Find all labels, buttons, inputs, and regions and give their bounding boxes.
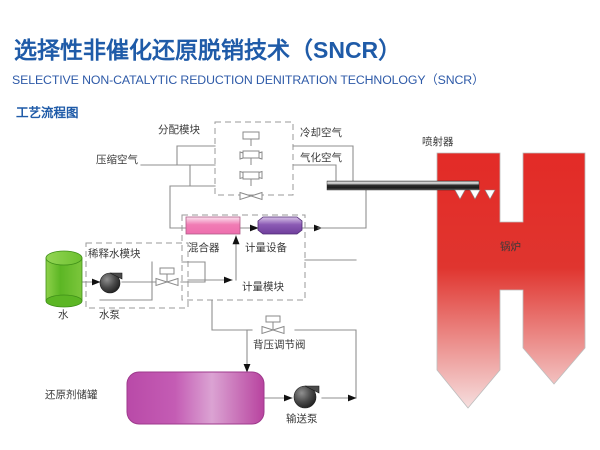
label-gasification-air: 气化空气 (300, 151, 342, 164)
piping-network (82, 146, 366, 398)
injector-lance (327, 181, 479, 190)
label-transfer-pump: 输送泵 (286, 412, 318, 425)
pipe-branch-down (190, 165, 215, 186)
water-pump (100, 273, 122, 293)
valve-dilution-water[interactable] (156, 268, 178, 286)
label-dilution-water-module: 稀释水模块 (88, 247, 141, 260)
pipe-branch-up (177, 146, 215, 165)
mixer-vessel (186, 217, 240, 234)
label-mixer: 混合器 (188, 241, 220, 254)
label-cooling-air: 冷却空气 (300, 126, 342, 139)
label-injector: 喷射器 (422, 135, 454, 148)
pipe-meter-riser (318, 186, 366, 228)
label-metering-module: 计量模块 (242, 280, 284, 293)
label-compressed-air: 压缩空气 (96, 153, 138, 166)
nozzle-group (455, 190, 495, 199)
label-water: 水 (58, 309, 69, 321)
label-distribution-module: 分配模块 (158, 124, 200, 136)
label-back-pressure-valve: 背压调节阀 (253, 338, 306, 351)
valve-back-pressure[interactable] (262, 316, 284, 334)
pipe-tank-fill (212, 300, 247, 372)
process-flow-diagram: 分配模块 压缩空气 冷却空气 气化空气 喷射器 锅炉 混合器 计量设备 计量模块… (0, 0, 600, 450)
metering-device-vessel (258, 217, 302, 234)
label-boiler: 锅炉 (500, 241, 521, 253)
pipe-valve-to-metering (181, 262, 205, 282)
label-reductant-tank: 还原剂储罐 (45, 388, 98, 401)
label-water-pump: 水泵 (99, 309, 120, 321)
transfer-pump (294, 386, 319, 408)
reductant-storage-tank (127, 372, 264, 424)
slide-page: 选择性非催化还原脱销技术（SNCR） SELECTIVE NON-CATALYT… (0, 0, 600, 450)
label-metering-device: 计量设备 (245, 241, 287, 254)
water-tank (46, 251, 82, 307)
